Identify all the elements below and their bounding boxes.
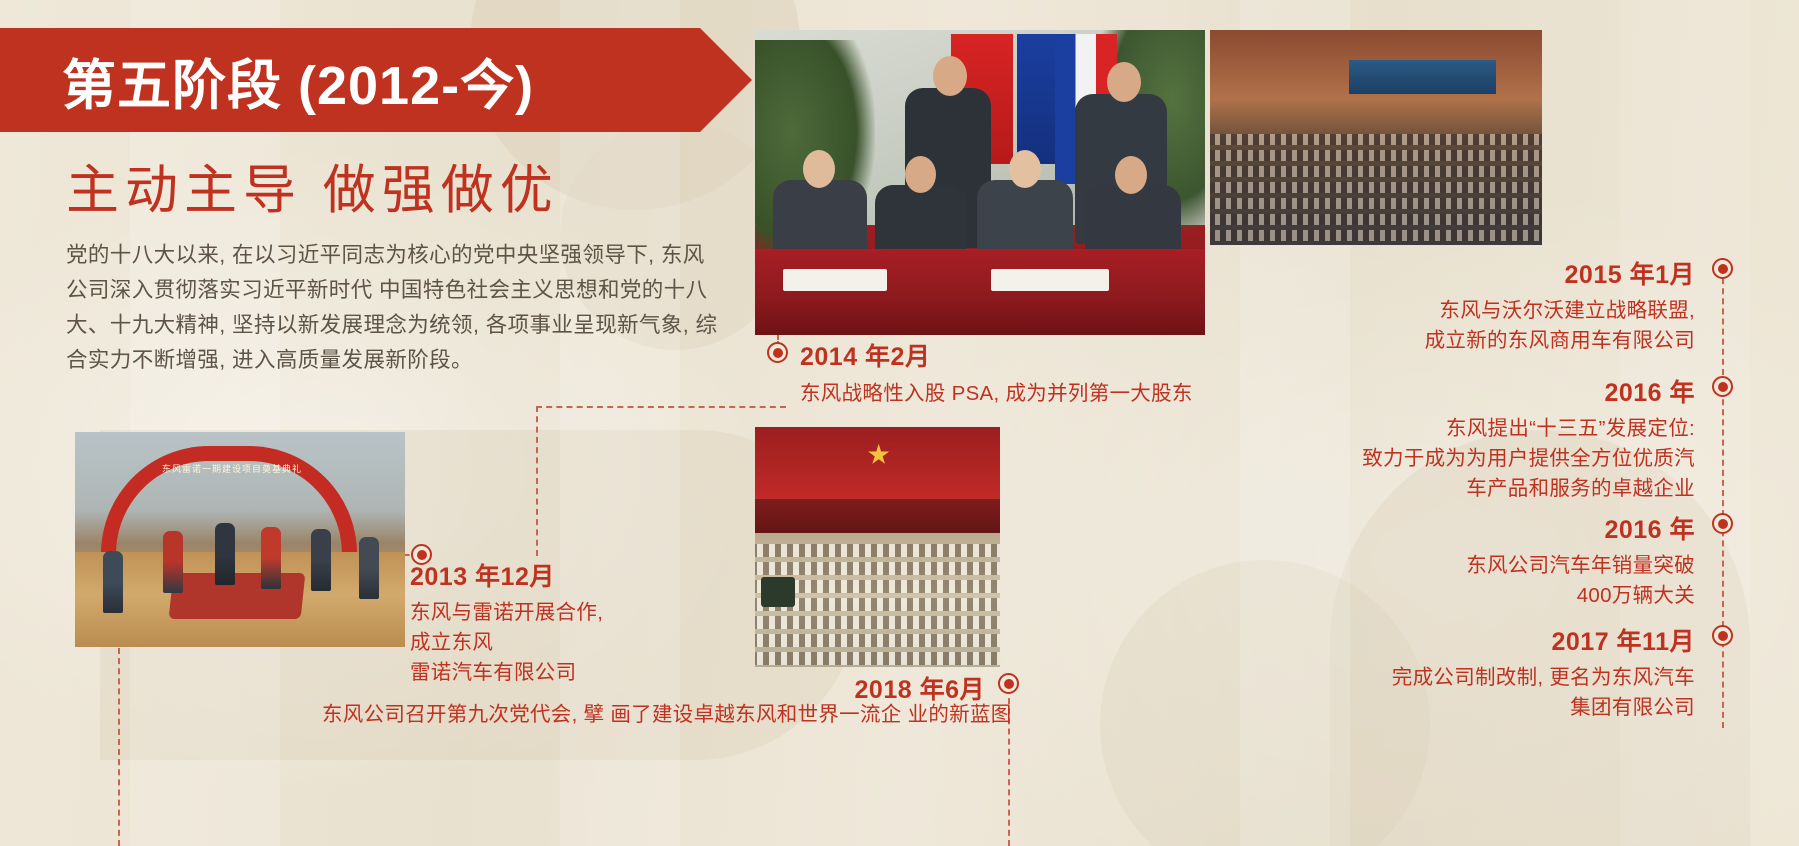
timeline-dot-2017[interactable] bbox=[1712, 625, 1733, 646]
timeline-dot-2016-135[interactable] bbox=[1712, 376, 1733, 397]
timeline-year-2015: 2015 年1月 bbox=[1180, 255, 1695, 291]
timeline-spine-right bbox=[1722, 258, 1724, 728]
timeline-desc-2016-135-line-3: 车产品和服务的卓越企业 bbox=[1180, 474, 1695, 504]
timeline-connector-2013-top bbox=[536, 406, 786, 408]
timeline-year-2016-135: 2016 年 bbox=[1180, 373, 1695, 409]
timeline-year-2016-sales: 2016 年 bbox=[1180, 510, 1695, 546]
timeline-desc-2016-135-line-1: 东风提出“十三五”发展定位: bbox=[1180, 414, 1695, 444]
timeline-dot-2013[interactable] bbox=[411, 544, 432, 565]
stage-banner: 第五阶段 (2012-今) bbox=[0, 28, 700, 132]
timeline-desc-2015-line-1: 东风与沃尔沃建立战略联盟, bbox=[1180, 296, 1695, 326]
intro-paragraph: 党的十八大以来, 在以习近平同志为核心的党中央坚强领导下, 东风公司深入贯彻落实… bbox=[66, 238, 726, 378]
banner-title: 第五阶段 (2012-今) bbox=[0, 41, 534, 120]
timeline-desc-2014: 东风战略性入股 PSA, 成为并列第一大股东 bbox=[800, 379, 1220, 409]
timeline-dot-2014[interactable] bbox=[767, 342, 788, 363]
timeline-year-2014: 2014 年2月 bbox=[800, 337, 1220, 373]
timeline-desc-2016-sales-line-1: 东风公司汽车年销量突破 bbox=[1180, 551, 1695, 581]
timeline-desc-2017-line-1: 完成公司制改制, 更名为东风汽车 bbox=[1180, 663, 1695, 693]
timeline-dot-2018[interactable] bbox=[998, 673, 1019, 694]
party-congress-photo bbox=[755, 427, 1000, 667]
volvo-conference-photo bbox=[1210, 30, 1542, 245]
timeline-entry-2015: 2015 年1月 东风与沃尔沃建立战略联盟, 成立新的东风商用车有限公司 bbox=[1180, 255, 1695, 356]
timeline-year-2017: 2017 年11月 bbox=[1180, 622, 1695, 658]
timeline-desc-2017-line-2: 集团有限公司 bbox=[1180, 693, 1695, 723]
arch-banner-text: 东风雷诺一期建设项目奠基典礼 bbox=[127, 462, 337, 475]
timeline-entry-2013: 2013 年12月 东风与雷诺开展合作, 成立东风 雷诺汽车有限公司 bbox=[410, 533, 740, 688]
timeline-desc-2016-sales-line-2: 400万辆大关 bbox=[1180, 581, 1695, 611]
renault-groundbreaking-photo: 东风雷诺一期建设项目奠基典礼 bbox=[75, 432, 405, 647]
infographic-poster: 第五阶段 (2012-今) 主动主导 做强做优 党的十八大以来, 在以习近平同志… bbox=[0, 0, 1799, 846]
timeline-connector-bottom-left bbox=[118, 648, 120, 846]
timeline-desc-2018: 东风公司召开第九次党代会, 擘 画了建设卓越东风和世界一流企 业的新蓝图 bbox=[322, 700, 1012, 730]
timeline-dot-2016-sales[interactable] bbox=[1712, 513, 1733, 534]
timeline-desc-2015-line-2: 成立新的东风商用车有限公司 bbox=[1180, 326, 1695, 356]
timeline-entry-2018-desc: 东风公司召开第九次党代会, 擘 画了建设卓越东风和世界一流企 业的新蓝图 bbox=[322, 700, 1012, 730]
tv-camera bbox=[761, 577, 795, 607]
timeline-entry-2016-sales: 2016 年 东风公司汽车年销量突破 400万辆大关 bbox=[1180, 510, 1695, 611]
timeline-entry-2016-135: 2016 年 东风提出“十三五”发展定位: 致力于成为为用户提供全方位优质汽 车… bbox=[1180, 373, 1695, 504]
page-subtitle: 主动主导 做强做优 bbox=[66, 148, 559, 224]
timeline-desc-2013-line-2: 成立东风 bbox=[410, 628, 740, 658]
timeline-desc-2013-line-1: 东风与雷诺开展合作, bbox=[410, 598, 740, 628]
timeline-dot-2015[interactable] bbox=[1712, 258, 1733, 279]
timeline-year-2013: 2013 年12月 bbox=[410, 557, 740, 593]
timeline-entry-2017: 2017 年11月 完成公司制改制, 更名为东风汽车 集团有限公司 bbox=[1180, 622, 1695, 723]
psa-signing-photo bbox=[755, 30, 1205, 335]
timeline-desc-2016-135-line-2: 致力于成为为用户提供全方位优质汽 bbox=[1180, 444, 1695, 474]
timeline-entry-2014: 2014 年2月 东风战略性入股 PSA, 成为并列第一大股东 bbox=[800, 337, 1220, 409]
